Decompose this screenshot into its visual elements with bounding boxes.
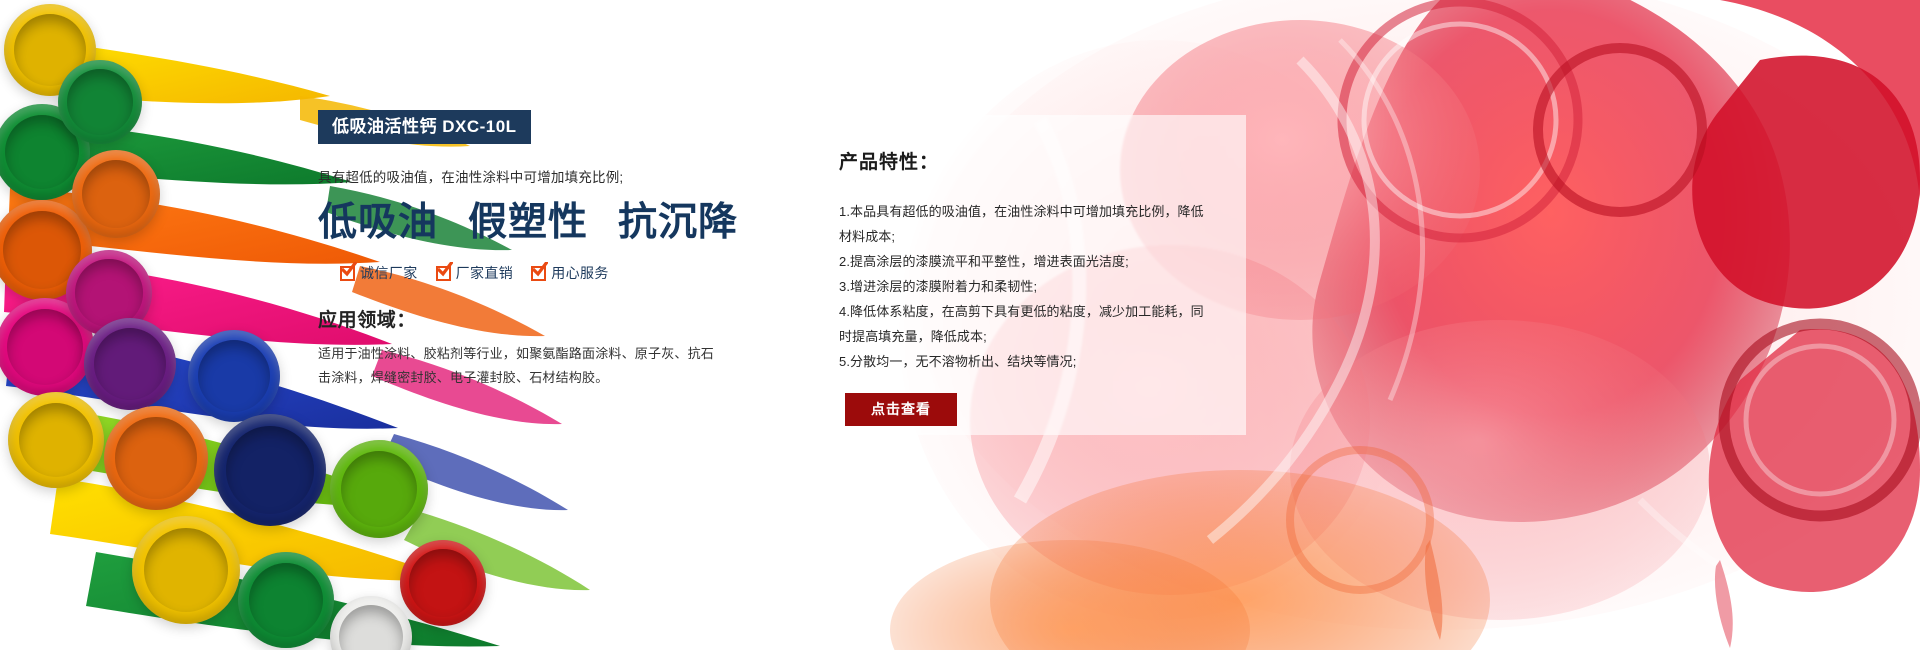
- paint-can: [8, 392, 104, 488]
- feature-list-item: 3.增进涂层的漆膜附着力和柔韧性;: [839, 275, 1216, 300]
- checkbox-check-icon: [340, 266, 355, 281]
- paint-can: [104, 406, 208, 510]
- trust-badge: 厂家直销: [436, 263, 514, 283]
- features-panel-title: 产品特性：: [839, 147, 1216, 174]
- banner-stage: 低吸油活性钙 DXC-10L 具有超低的吸油值，在油性涂料中可增加填充比例; 低…: [0, 0, 1920, 650]
- feature-headline: 低吸油假塑性抗沉降: [318, 202, 738, 245]
- check-tick-icon: [437, 262, 453, 277]
- trust-badge: 诚信厂家: [340, 263, 418, 283]
- paint-can: [238, 552, 334, 648]
- check-tick-icon: [341, 262, 357, 277]
- view-details-button[interactable]: 点击查看: [845, 393, 957, 426]
- feature-list-item: 4.降低体系粘度，在高剪下具有更低的粘度，减少加工能耗，同时提高填充量，降低成本…: [839, 300, 1216, 350]
- paint-can: [58, 60, 142, 144]
- checkbox-check-icon: [436, 266, 451, 281]
- feature-list-item: 1.本品具有超低的吸油值，在油性涂料中可增加填充比例，降低材料成本;: [839, 200, 1216, 250]
- trust-badge: 用心服务: [531, 263, 609, 283]
- headline-word-2: 假塑性: [468, 201, 588, 244]
- product-features-panel: 产品特性： 1.本品具有超低的吸油值，在油性涂料中可增加填充比例，降低材料成本;…: [803, 115, 1246, 435]
- check-tick-icon: [532, 262, 548, 277]
- trust-badge-label: 诚信厂家: [360, 263, 418, 283]
- paint-can: [132, 516, 240, 624]
- feature-list-item: 2.提高涂层的漆膜流平和平整性，增进表面光洁度;: [839, 250, 1216, 275]
- paint-can: [400, 540, 486, 626]
- trust-badge-label: 厂家直销: [456, 263, 514, 283]
- headline-word-1: 低吸油: [318, 201, 438, 244]
- product-subtitle: 具有超低的吸油值，在油性涂料中可增加填充比例;: [318, 168, 738, 188]
- paint-can: [72, 150, 160, 238]
- paint-can: [84, 318, 176, 410]
- paint-can: [330, 440, 428, 538]
- checkbox-check-icon: [531, 266, 546, 281]
- paint-can: [214, 414, 326, 526]
- trust-badge-row: 诚信厂家 厂家直销 用心服务: [340, 263, 738, 283]
- application-section-body: 适用于油性涂料、胶粘剂等行业，如聚氨酯路面涂料、原子灰、抗石击涂料，焊缝密封胶、…: [318, 342, 718, 390]
- application-section-title: 应用领域：: [318, 305, 738, 332]
- product-title-tag: 低吸油活性钙 DXC-10L: [318, 110, 531, 144]
- features-list: 1.本品具有超低的吸油值，在油性涂料中可增加填充比例，降低材料成本; 2.提高涂…: [839, 200, 1216, 375]
- feature-list-item: 5.分散均一，无不溶物析出、结块等情况;: [839, 350, 1216, 375]
- headline-word-3: 抗沉降: [618, 201, 738, 244]
- left-content-block: 低吸油活性钙 DXC-10L 具有超低的吸油值，在油性涂料中可增加填充比例; 低…: [318, 110, 738, 390]
- paint-can: [188, 330, 280, 422]
- trust-badge-label: 用心服务: [551, 263, 609, 283]
